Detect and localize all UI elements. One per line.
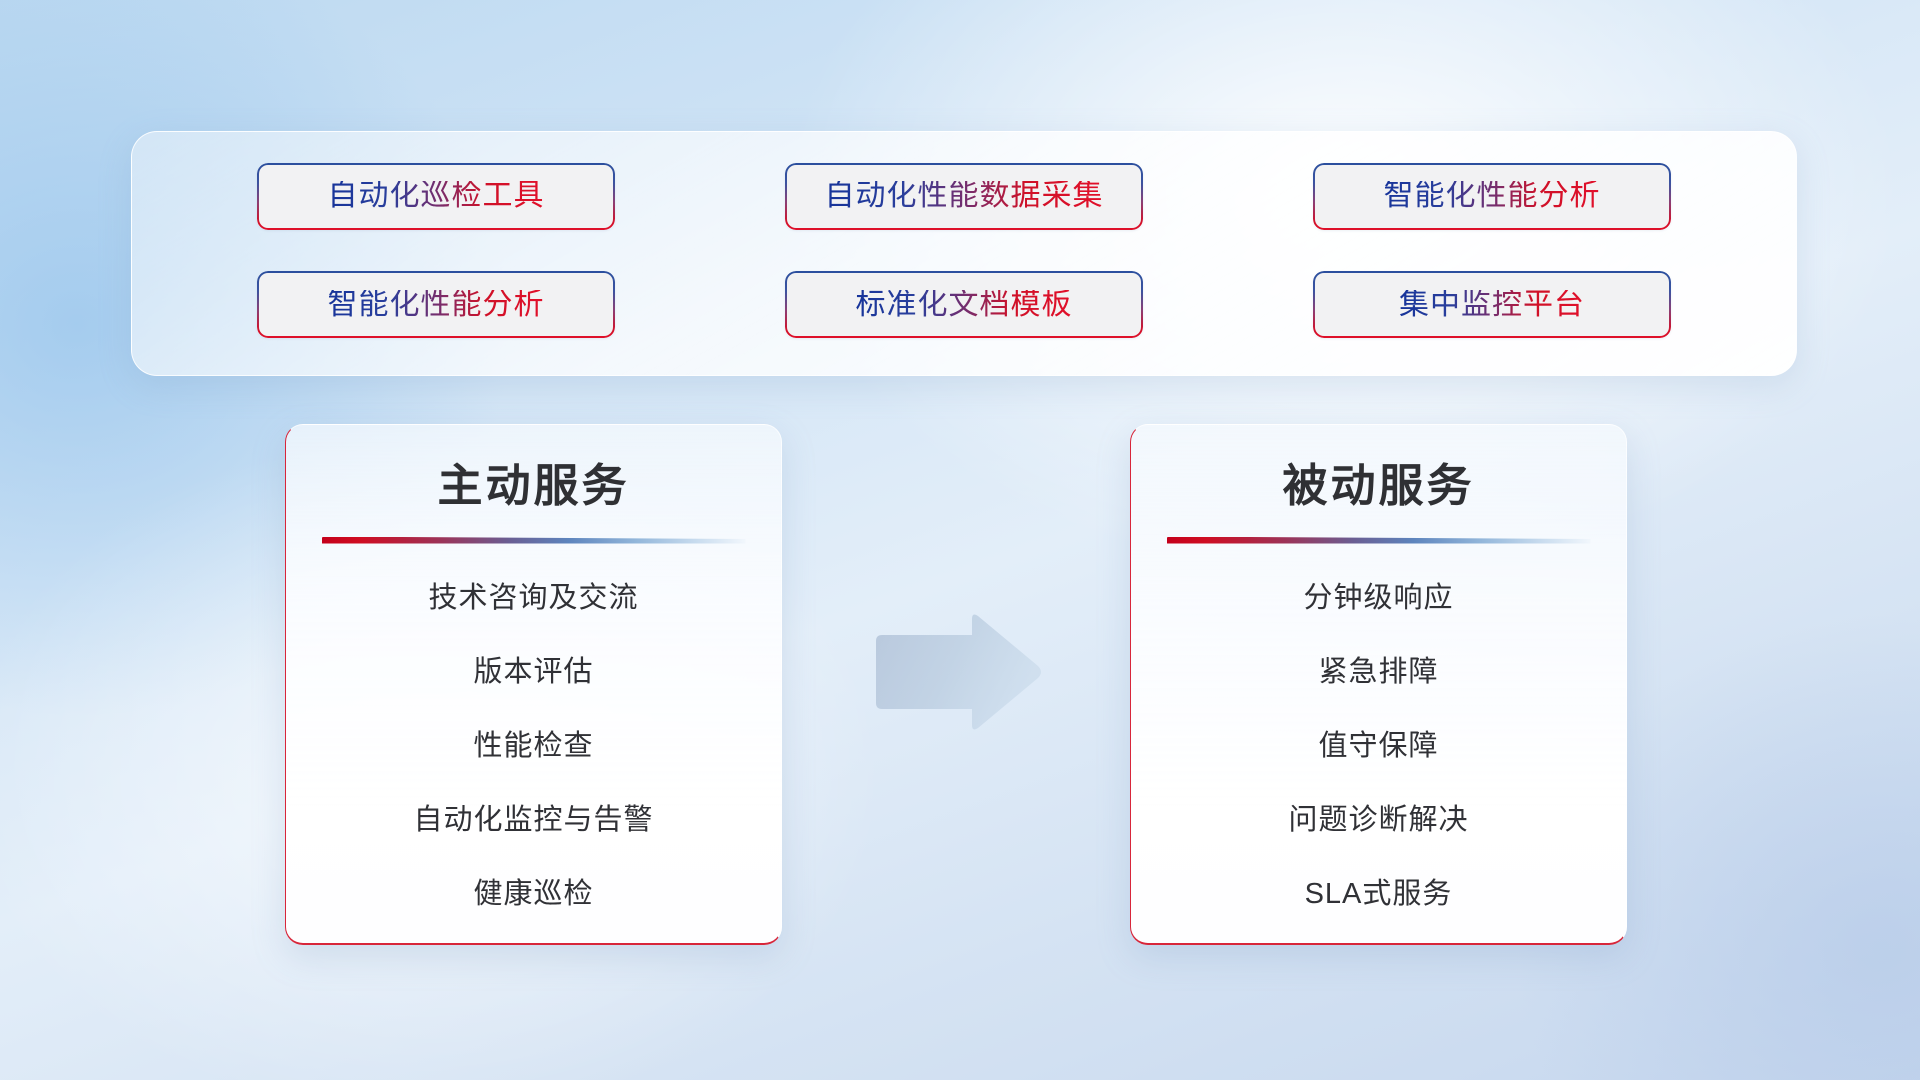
capability-pill-automated-inspection-tool[interactable]: 自动化巡检工具 bbox=[257, 163, 615, 230]
service-item-list-reactive: 分钟级响应 紧急排障 值守保障 问题诊断解决 SLA式服务 bbox=[1131, 584, 1626, 909]
capability-pill-label: 自动化性能数据采集 bbox=[825, 181, 1104, 211]
capability-pill-automated-performance-data-collection[interactable]: 自动化性能数据采集 bbox=[785, 163, 1143, 230]
capability-pill-grid: 自动化巡检工具 自动化性能数据采集 智能化性能分析 智能化性能分析 标准化文档模… bbox=[132, 132, 1796, 375]
capability-pill-label: 智能化性能分析 bbox=[328, 290, 545, 320]
service-list-item: 版本评估 bbox=[286, 658, 781, 687]
capability-pill-intelligent-performance-analysis-top[interactable]: 智能化性能分析 bbox=[1313, 163, 1671, 230]
title-divider bbox=[322, 537, 746, 544]
service-list-item: 性能检查 bbox=[286, 732, 781, 761]
service-list-item: 技术咨询及交流 bbox=[286, 584, 781, 613]
capability-pill-label: 集中监控平台 bbox=[1399, 290, 1585, 320]
service-card-proactive[interactable]: 主动服务 技术咨询及交流 版本评估 性能检查 自动化监控与告警 健康巡检 bbox=[285, 424, 782, 945]
capability-tools-panel: 自动化巡检工具 自动化性能数据采集 智能化性能分析 智能化性能分析 标准化文档模… bbox=[131, 131, 1797, 376]
service-list-item: 问题诊断解决 bbox=[1131, 806, 1626, 835]
service-list-item: 自动化监控与告警 bbox=[286, 806, 781, 835]
diagram-canvas: 自动化巡检工具 自动化性能数据采集 智能化性能分析 智能化性能分析 标准化文档模… bbox=[0, 0, 1920, 1080]
capability-pill-standardized-document-template[interactable]: 标准化文档模板 bbox=[785, 271, 1143, 338]
capability-pill-label: 智能化性能分析 bbox=[1384, 181, 1601, 211]
capability-pill-label: 标准化文档模板 bbox=[856, 290, 1073, 320]
service-list-item: 值守保障 bbox=[1131, 732, 1626, 761]
service-item-list-proactive: 技术咨询及交流 版本评估 性能检查 自动化监控与告警 健康巡检 bbox=[286, 584, 781, 909]
service-card-title: 被动服务 bbox=[1131, 461, 1626, 511]
service-list-item: SLA式服务 bbox=[1131, 880, 1626, 909]
service-list-item: 紧急排障 bbox=[1131, 658, 1626, 687]
service-list-item: 健康巡检 bbox=[286, 880, 781, 909]
service-card-title: 主动服务 bbox=[286, 461, 781, 511]
title-divider-bar bbox=[1167, 537, 1591, 544]
right-arrow-icon bbox=[868, 611, 1044, 733]
title-divider bbox=[1167, 537, 1591, 544]
service-card-reactive[interactable]: 被动服务 分钟级响应 紧急排障 值守保障 问题诊断解决 SLA式服务 bbox=[1130, 424, 1627, 945]
title-divider-bar bbox=[322, 537, 746, 544]
capability-pill-label: 自动化巡检工具 bbox=[328, 181, 545, 211]
service-list-item: 分钟级响应 bbox=[1131, 584, 1626, 613]
capability-pill-intelligent-performance-analysis-bottom[interactable]: 智能化性能分析 bbox=[257, 271, 615, 338]
capability-pill-centralized-monitoring-platform[interactable]: 集中监控平台 bbox=[1313, 271, 1671, 338]
